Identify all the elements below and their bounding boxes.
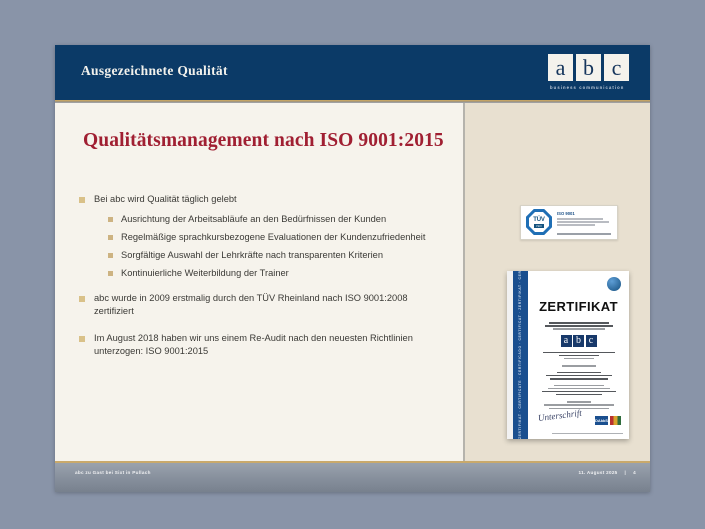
bullet-marker-icon [79,336,85,342]
tuv-mark-sub: ISO [534,224,543,228]
certificate-text-line [559,355,599,357]
tuv-mark-text: TÜV [533,217,544,223]
bullet-item-level2: Regelmäßige sprachkursbezogene Evaluatio… [108,231,439,244]
bullet-marker-icon [79,197,85,203]
logo-letter-c: c [604,54,629,81]
bullet-item-level2: Sorgfältige Auswahl der Lehrkräfte nach … [108,249,439,262]
tuv-footer-line [557,233,611,235]
certificate-document: ZERTIFIKAT · CERTIFICATE · CERTIFICADO ·… [507,271,629,439]
certificate-text-line [556,394,602,396]
certificate-logo-letter-b: b [573,335,584,347]
certificate-logo-letter-a: a [561,335,572,347]
tuv-octagon-inner: TÜV ISO [529,212,549,232]
bullet-text: Kontinuierliche Weiterbildung der Traine… [121,267,289,280]
certificate-text-line [543,352,615,354]
bullet-text: Regelmäßige sprachkursbezogene Evaluatio… [121,231,425,244]
bullet-item-level2: Kontinuierliche Weiterbildung der Traine… [108,267,439,280]
footer-separator: | [625,470,627,475]
logo-tagline: business communication [550,85,624,90]
certificate-text-line [549,322,609,324]
certificate-text-line [545,325,613,327]
certificate-detail-text [535,372,622,380]
certificate-logo-letter-c: c [586,335,597,347]
logo-letter-a: a [548,54,573,81]
certificate-company-text [535,352,622,360]
certificate-text-line [567,401,591,403]
certificate-image: ZERTIFIKAT · CERTIFICATE · CERTIFICADO ·… [507,271,629,439]
certificate-intro-text [535,322,622,330]
bullet-item-level1: Bei abc wird Qualität täglich gelebt [79,193,439,206]
tuv-fineprint-line [557,224,595,226]
certificate-text-line [550,378,608,380]
bullet-group-gap [79,325,439,332]
certificate-text-line [553,328,605,330]
footer-page-number: 4 [633,470,636,475]
tuv-fineprint-line [557,218,603,220]
certificate-scope-text [535,365,622,367]
page-title: Ausgezeichnete Qualität [81,63,228,79]
certificate-footer-line [552,433,623,434]
certificate-text-line [557,372,601,374]
tuv-iso-label: ISO 9001 [557,211,613,216]
footer-left-text: abc zu Gast bei Sixt in Pullach [75,470,151,475]
bullet-group-gap [79,285,439,292]
bullet-text: Bei abc wird Qualität täglich gelebt [94,193,237,206]
certificate-standard-text [535,385,622,396]
certificate-panel: TÜV ISO ISO 9001 ZERTIFIKAT · CERTIFICAT… [465,103,650,463]
certificate-text-line [554,385,604,387]
bullet-item-level1: abc wurde in 2009 erstmalig durch den TÜ… [79,292,439,318]
footer-date: 11. August 2025 [578,470,617,475]
bullet-item-level2: Ausrichtung der Arbeitsabläufe an den Be… [108,213,439,226]
bullet-item-level1: Im August 2018 haben wir uns einem Re-Au… [79,332,439,358]
certificate-text-line [564,358,594,360]
tuv-fineprint-line [557,221,609,223]
certificate-signature: Unterschrift [537,409,572,425]
tuv-octagon-icon: TÜV ISO [526,209,552,235]
bullet-text: Ausrichtung der Arbeitsabläufe an den Be… [121,213,386,226]
certificate-text-line [542,391,616,393]
certificate-abc-logo: a b c [557,335,601,347]
bullet-marker-icon [108,217,113,222]
slide-footer: abc zu Gast bei Sixt in Pullach 11. Augu… [55,461,650,492]
bullet-text: abc wurde in 2009 erstmalig durch den TÜ… [94,292,439,318]
main-heading: Qualitätsmanagement nach ISO 9001:2015 [83,130,444,152]
bullet-marker-icon [79,296,85,302]
bullet-text: Sorgfältige Auswahl der Lehrkräfte nach … [121,249,383,262]
certificate-text-line [562,365,596,367]
certificate-title: ZERTIFIKAT [535,299,622,314]
certificate-text-line [548,388,610,390]
bullet-text: Im August 2018 haben wir uns einem Re-Au… [94,332,439,358]
bullet-marker-icon [108,253,113,258]
footer-right-group: 11. August 2025 | 4 [578,470,636,475]
abc-logo: a b c business communication [544,54,636,94]
certificate-side-text: ZERTIFIKAT · CERTIFICATE · CERTIFICADO ·… [513,271,528,439]
dakks-badge: DAkkS [595,416,608,425]
logo-letter-b: b [576,54,601,81]
tuv-card-text: ISO 9001 [557,211,613,227]
certificate-text-line [544,404,614,406]
certificate-body: ZERTIFIKAT a b c [528,271,629,439]
bullet-marker-icon [108,271,113,276]
slide: Ausgezeichnete Qualität a b c business c… [55,45,650,492]
tuv-certification-mark: TÜV ISO ISO 9001 [520,205,618,240]
bullet-marker-icon [108,235,113,240]
certificate-seal-icon [607,277,621,291]
certificate-accreditation-badges: DAkkS [595,416,621,425]
bullet-list: Bei abc wird Qualität täglich gelebt Aus… [79,193,439,365]
accreditation-stripe-icon [610,416,621,425]
certificate-text-line [546,375,612,377]
logo-letter-boxes: a b c [548,54,629,81]
